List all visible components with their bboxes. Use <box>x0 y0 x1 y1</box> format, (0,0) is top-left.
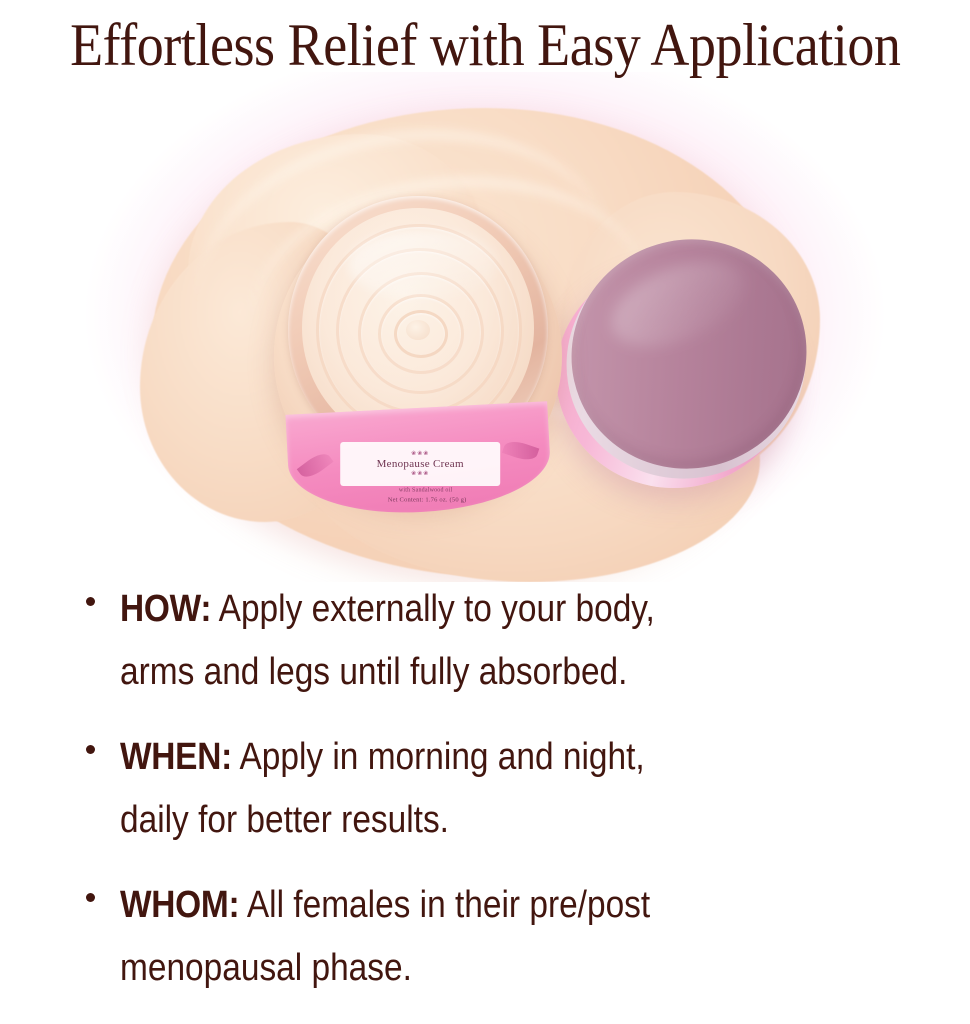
instruction-line: WHEN: Apply in morning and night, <box>120 726 645 789</box>
instruction-line: arms and legs until fully absorbed. <box>120 641 655 704</box>
list-item-body: HOW: Apply externally to your body, arms… <box>120 578 728 704</box>
label-ornament-top: ❀❀❀ <box>411 451 429 457</box>
instruction-label: WHEN: <box>120 736 232 778</box>
instruction-line: HOW: Apply externally to your body, <box>120 578 655 641</box>
instruction-line: menopausal phase. <box>120 937 650 1000</box>
bullet-dot-icon <box>86 893 95 902</box>
cream-jar: ❀❀❀ Menopause Cream ❀❀❀ with Sandalwood … <box>268 190 568 520</box>
list-item-body: WHEN: Apply in morning and night, daily … <box>120 726 716 852</box>
leaf-motif-icon <box>502 438 539 464</box>
leaf-motif-icon <box>297 449 334 482</box>
instruction-text: All females in their pre/post <box>239 884 650 926</box>
product-hero-image: ❀❀❀ Menopause Cream ❀❀❀ with Sandalwood … <box>0 72 970 582</box>
instruction-text: Apply in morning and night, <box>232 736 645 778</box>
list-item: WHOM: All females in their pre/post meno… <box>86 874 946 1000</box>
bullet-dot-icon <box>86 597 95 606</box>
list-item: WHEN: Apply in morning and night, daily … <box>86 726 946 852</box>
lid-top-surface <box>537 204 841 504</box>
instruction-line: WHOM: All females in their pre/post <box>120 874 650 937</box>
product-label-plate: ❀❀❀ Menopause Cream ❀❀❀ <box>340 442 500 486</box>
instruction-text: Apply externally to your body, <box>211 588 655 630</box>
product-label-band: ❀❀❀ Menopause Cream ❀❀❀ with Sandalwood … <box>285 401 552 519</box>
jar-gloss-highlight <box>348 230 498 300</box>
jar-lid <box>552 234 814 512</box>
cream-swirl-center <box>406 320 430 340</box>
list-item-body: WHOM: All females in their pre/post meno… <box>120 874 722 1000</box>
instruction-label: HOW: <box>120 588 211 630</box>
list-item: HOW: Apply externally to your body, arms… <box>86 578 946 704</box>
instructions-list: HOW: Apply externally to your body, arms… <box>86 578 946 1022</box>
label-ornament-bottom: ❀❀❀ <box>411 471 429 477</box>
instruction-label: WHOM: <box>120 884 239 926</box>
instruction-line: daily for better results. <box>120 789 645 852</box>
page-title: Effortless Relief with Easy Application <box>0 0 970 90</box>
product-subtitle: with Sandalwood oil <box>346 488 506 494</box>
product-name: Menopause Cream <box>377 458 464 470</box>
page-title-text: Effortless Relief with Easy Application <box>70 15 900 75</box>
product-net-content: Net Content: 1.76 oz. (50 g) <box>342 497 512 504</box>
bullet-dot-icon <box>86 745 95 754</box>
